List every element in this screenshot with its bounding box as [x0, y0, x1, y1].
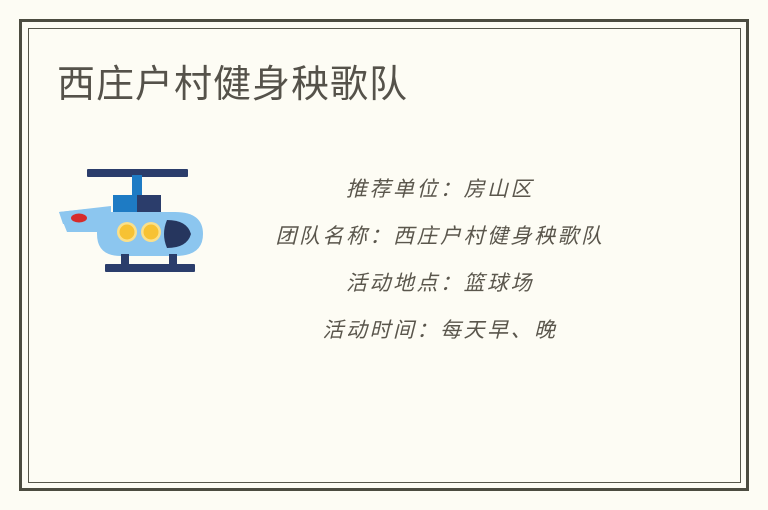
helicopter-icon: [57, 160, 217, 275]
info-line-team-name: 团队名称：西庄户村健身秧歌队: [222, 213, 658, 260]
info-list: 推荐单位：房山区 团队名称：西庄户村健身秧歌队 活动地点：篮球场 活动时间：每天…: [222, 166, 658, 354]
info-line-activity-time: 活动时间：每天早、晚: [222, 307, 658, 354]
info-card: 西庄户村健身秧歌队: [0, 0, 768, 510]
info-line-recommending-unit: 推荐单位：房山区: [222, 166, 658, 213]
page-title: 西庄户村健身秧歌队: [57, 62, 408, 108]
info-line-activity-location: 活动地点：篮球场: [222, 260, 658, 307]
